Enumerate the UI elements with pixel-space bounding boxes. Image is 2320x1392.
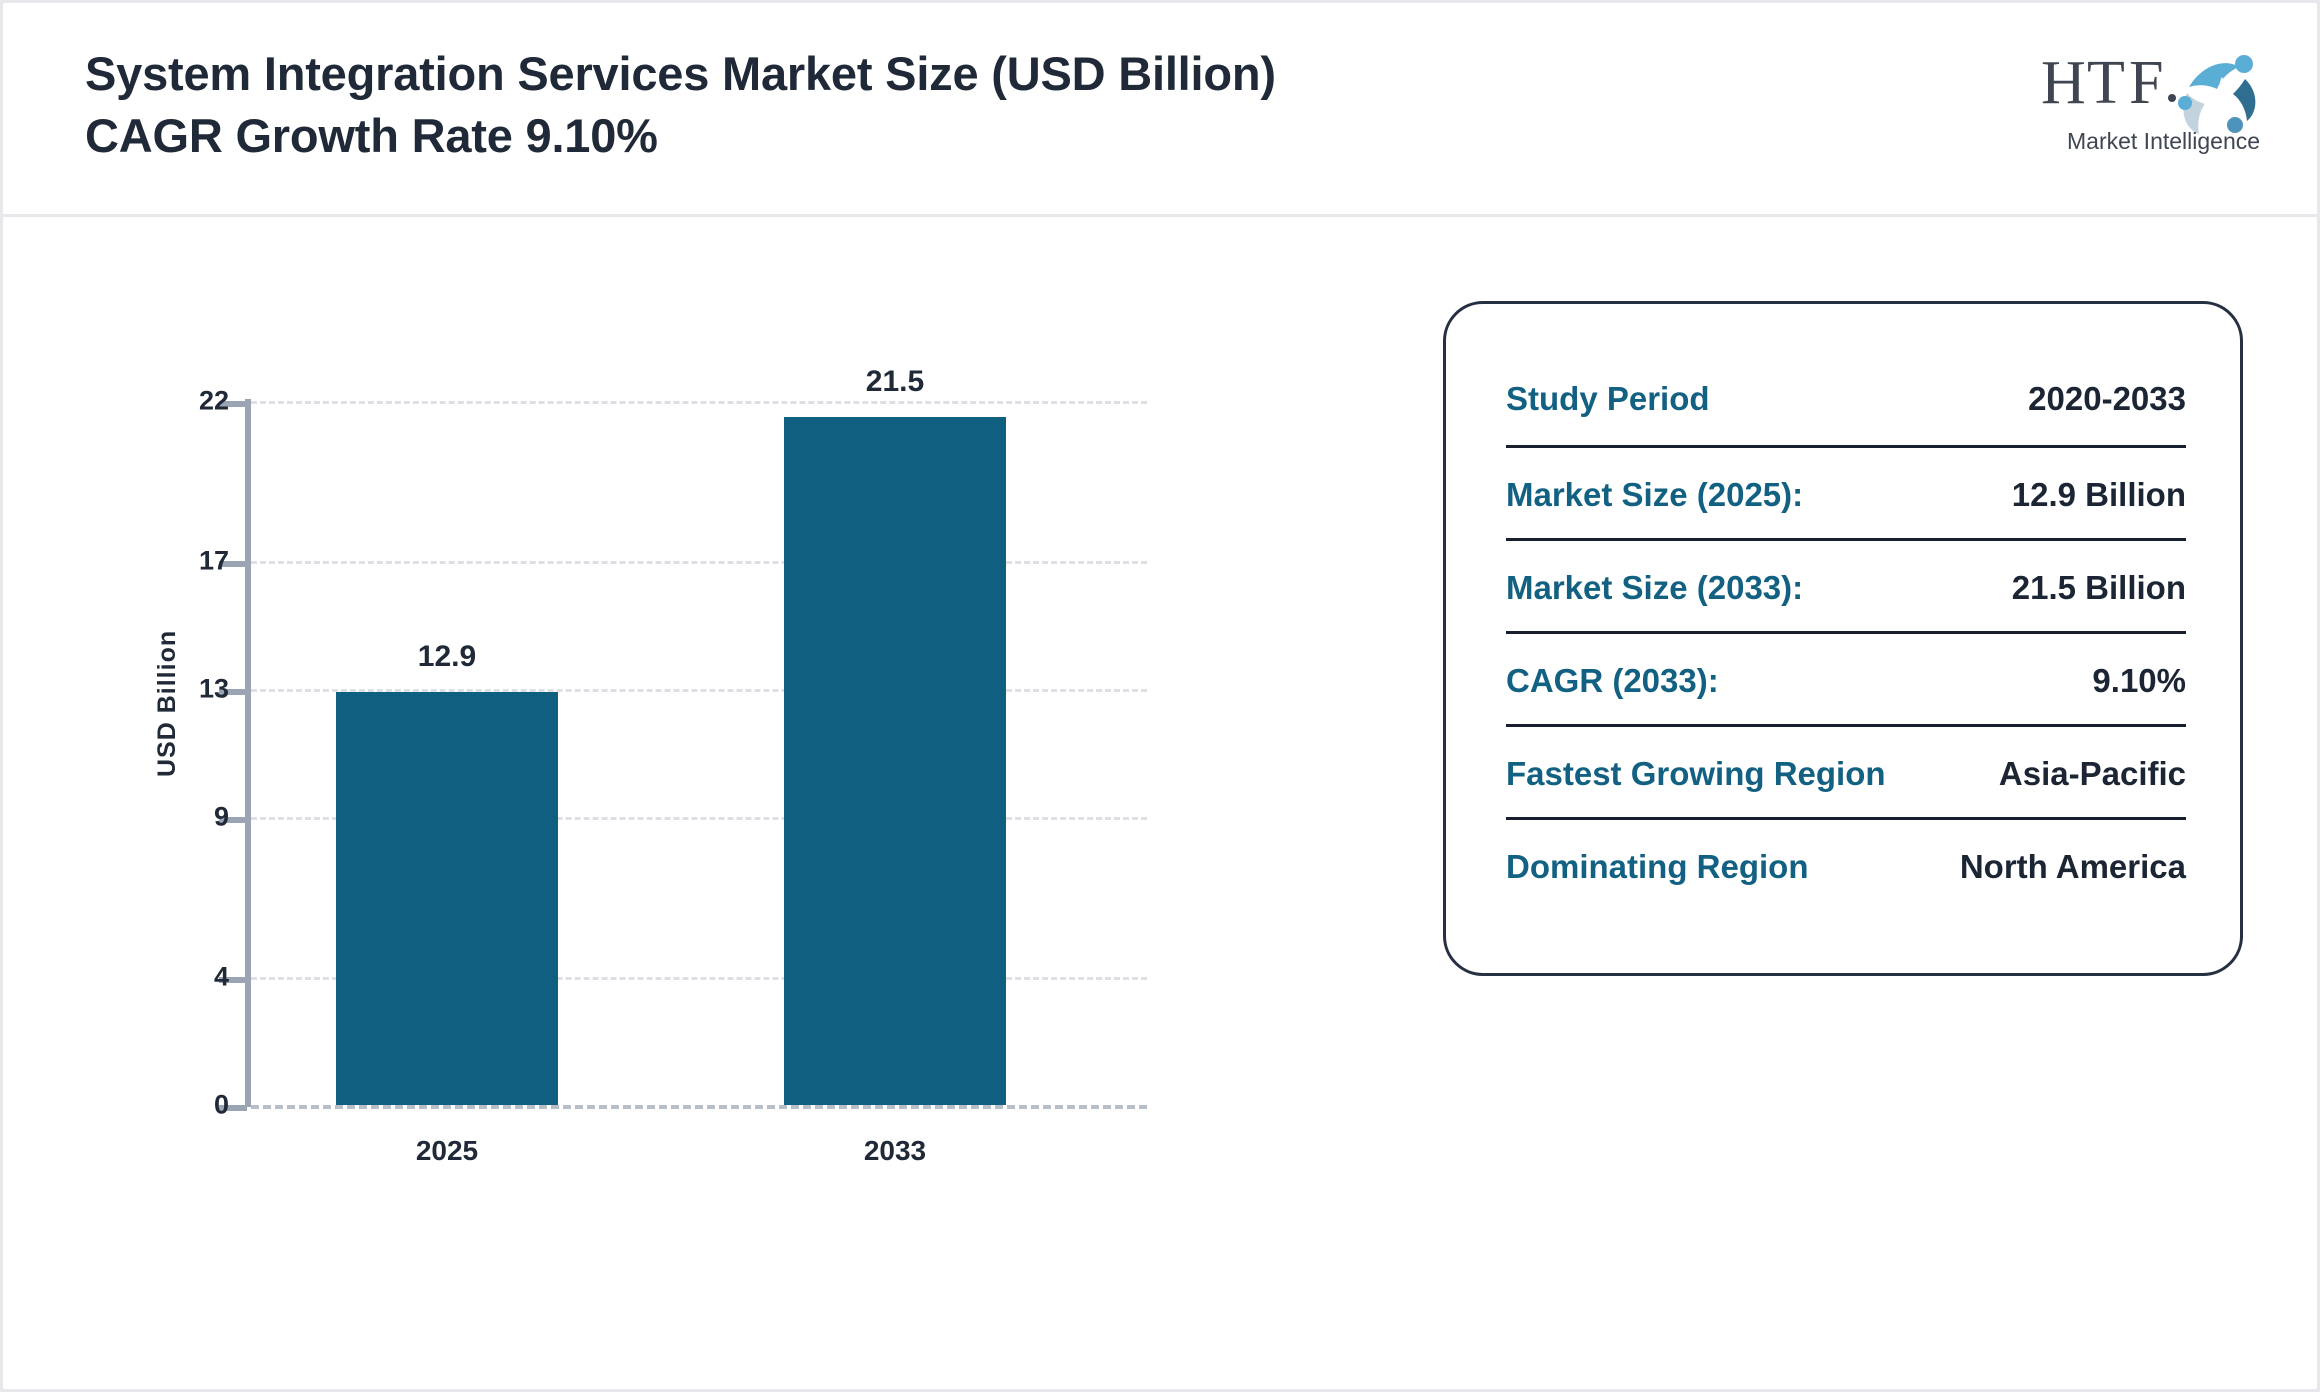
summary-row-value: Asia-Pacific [1999,727,2186,820]
market-summary-card: Study Period2020-2033Market Size (2025):… [1443,301,2243,976]
svg-text:F: F [2129,49,2163,117]
y-tick-label: 4 [109,962,229,993]
summary-row-value: 2020-2033 [2028,352,2186,445]
gridline [251,401,1147,404]
plot-area: 049131722 12.921.5 20252033 [251,401,1147,1105]
htf-market-intelligence-logo: H T F [2039,41,2269,159]
page-header: System Integration Services Market Size … [3,3,2317,217]
summary-row-value: North America [1960,820,2186,913]
summary-row-label: Market Size (2025): [1506,448,1803,541]
x-tick-label: 2025 [327,1135,567,1167]
y-tick-label: 22 [109,386,229,417]
summary-row-list: Study Period2020-2033Market Size (2025):… [1506,352,2186,910]
summary-row: CAGR (2033):9.10% [1506,631,2186,724]
summary-row-label: Market Size (2033): [1506,541,1803,634]
gridline [251,561,1147,564]
summary-row: Dominating RegionNorth America [1506,817,2186,910]
y-tick-label: 9 [109,802,229,833]
summary-row-label: CAGR (2033): [1506,634,1719,727]
gridline [251,1105,1147,1109]
bar-chart: USD Billion 049131722 12.921.5 20252033 [3,217,1403,1387]
summary-row: Study Period2020-2033 [1506,352,2186,445]
svg-text:T: T [2087,49,2125,117]
summary-row-value: 9.10% [2092,634,2186,727]
summary-row-value: 12.9 Billion [2012,448,2186,541]
bar-value-label: 21.5 [775,365,1015,399]
summary-row-label: Dominating Region [1506,820,1808,913]
bar[interactable] [336,692,558,1105]
summary-row-label: Study Period [1506,352,1710,445]
summary-row-label: Fastest Growing Region [1506,727,1886,820]
y-axis-line [245,399,251,1107]
summary-row-value: 21.5 Billion [2012,541,2186,634]
y-tick-label: 0 [109,1090,229,1121]
bar-value-label: 12.9 [327,640,567,674]
svg-text:H: H [2041,49,2086,117]
page-title: System Integration Services Market Size … [85,43,1385,167]
summary-row: Fastest Growing RegionAsia-Pacific [1506,724,2186,817]
x-tick-label: 2033 [775,1135,1015,1167]
summary-row: Market Size (2033):21.5 Billion [1506,538,2186,631]
y-tick-label: 17 [109,546,229,577]
report-page: System Integration Services Market Size … [0,0,2320,1392]
summary-row: Market Size (2025):12.9 Billion [1506,445,2186,538]
y-tick-label: 13 [109,674,229,705]
bar[interactable] [784,417,1006,1105]
svg-text:Market Intelligence: Market Intelligence [2067,128,2260,154]
